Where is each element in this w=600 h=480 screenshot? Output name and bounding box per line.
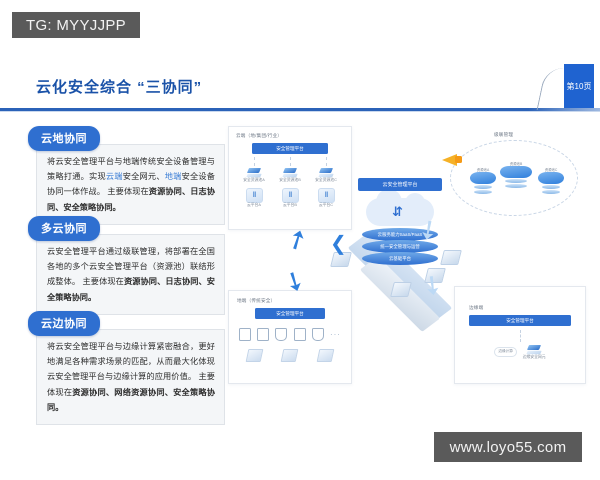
page-number-badge: 第10页 — [564, 64, 594, 108]
security-device-icon — [281, 349, 299, 362]
arrow-inbound: ❮ — [330, 234, 347, 254]
panel-platform-button[interactable]: 安全管理平台 — [469, 315, 571, 326]
device-label: 云平台B — [274, 203, 306, 208]
center-platform-button[interactable]: 云安全管理平台 — [358, 178, 442, 191]
security-device-icon — [246, 349, 264, 362]
cloud-platform-icon: ǁ — [282, 188, 299, 203]
node-label: 安全资源池B — [274, 178, 306, 183]
card-tab-label: 多云协同 — [28, 216, 100, 241]
architecture-diagram: 云端（地/集团/行业） 安全管理平台 安全资源池A 安全资源池B — [222, 122, 590, 394]
card-body-text: 将云安全管理平台与边缘计算紧密融合，更好地满足各种需求场景的匹配，从而最大化体现… — [36, 329, 225, 425]
panel-title: 云端（地/集团/行业） — [236, 133, 344, 139]
device-label: 云平台A — [238, 203, 270, 208]
card-body-text: 云安全管理平台通过级联管理，将部署在全国各地的多个云安全管理平台（资源池）联结形… — [36, 234, 225, 315]
more-icon: ··· — [330, 330, 341, 339]
firewall-icon — [239, 328, 251, 341]
cloud-platform-icon: ǁ — [246, 188, 263, 203]
audit-icon — [294, 328, 306, 341]
edge-node-icon — [527, 344, 541, 355]
protect-icon — [312, 328, 324, 341]
satellite-node-icon — [440, 250, 462, 265]
satellite-node-icon — [390, 282, 412, 297]
sync-arrows-icon: ⇵ — [392, 204, 402, 220]
page-title: 云化安全综合 “三协同” — [36, 76, 202, 97]
resource-pool-icon — [319, 167, 333, 178]
panel-platform-button[interactable]: 安全管理平台 — [252, 143, 328, 154]
security-device-icon — [316, 349, 334, 362]
card-text-run: 资源协同、网络资源协同、安全策略协同。 — [47, 388, 215, 412]
panel-title: 级联管理 — [494, 132, 513, 138]
panel-title: 边缘端 — [469, 305, 571, 311]
card-text-run: 地端 — [165, 172, 182, 181]
panel-edge-side: 边缘端 安全管理平台 边缘计算 边缘安全网元 — [454, 286, 586, 384]
center-cloud-platform: ⇵ 云服务能力SaaS/PaaS 统一安全管理与运营 云基础平台 云安全管理平台 — [330, 178, 470, 318]
card-cloud-edge: 云边协同 将云安全管理平台与边缘计算紧密融合，更好地满足各种需求场景的匹配，从而… — [28, 311, 208, 425]
resource-pool-node: 资源池C — [538, 168, 564, 194]
node-label: 安全资源池A — [238, 178, 270, 183]
panel-title: 地端（传统安全） — [237, 298, 343, 304]
card-multi-cloud: 多云协同 云安全管理平台通过级联管理，将部署在全国各地的多个云安全管理平台（资源… — [28, 216, 208, 315]
card-tab-label: 云地协同 — [28, 126, 100, 151]
shield-icon — [275, 328, 287, 341]
bottom-watermark: www.loyo55.com — [434, 432, 582, 462]
resource-pool-node: 资源池B — [500, 162, 532, 188]
node-label: 边缘安全网元 — [523, 355, 546, 360]
slide-header: 云化安全综合 “三协同” 第10页 — [0, 64, 600, 116]
card-tab-label: 云边协同 — [28, 311, 100, 336]
card-text-run: 云端 — [106, 172, 123, 181]
card-text-run: 安全网元、 — [123, 172, 165, 181]
resource-pool-icon — [283, 167, 297, 178]
panel-platform-button[interactable]: 安全管理平台 — [255, 308, 325, 319]
megaphone-icon — [442, 150, 464, 170]
card-body-text: 将云安全管理平台与地端传统安全设备管理与策略打通。实现云端安全网元、地端安全设备… — [36, 144, 225, 225]
gateway-icon — [257, 328, 269, 341]
header-divider-thin — [0, 111, 600, 112]
platform-layer: 云基础平台 — [362, 252, 438, 265]
top-watermark: TG: MYYJJPP — [12, 12, 140, 38]
resource-pool-icon — [247, 167, 261, 178]
resource-pool-node: 资源池A — [470, 168, 496, 194]
edge-compute-tag: 边缘计算 — [494, 347, 516, 357]
card-cloud-ground: 云地协同 将云安全管理平台与地端传统安全设备管理与策略打通。实现云端安全网元、地… — [28, 126, 208, 225]
slide-page: TG: MYYJJPP www.loyo55.com 云化安全综合 “三协同” … — [0, 0, 600, 480]
